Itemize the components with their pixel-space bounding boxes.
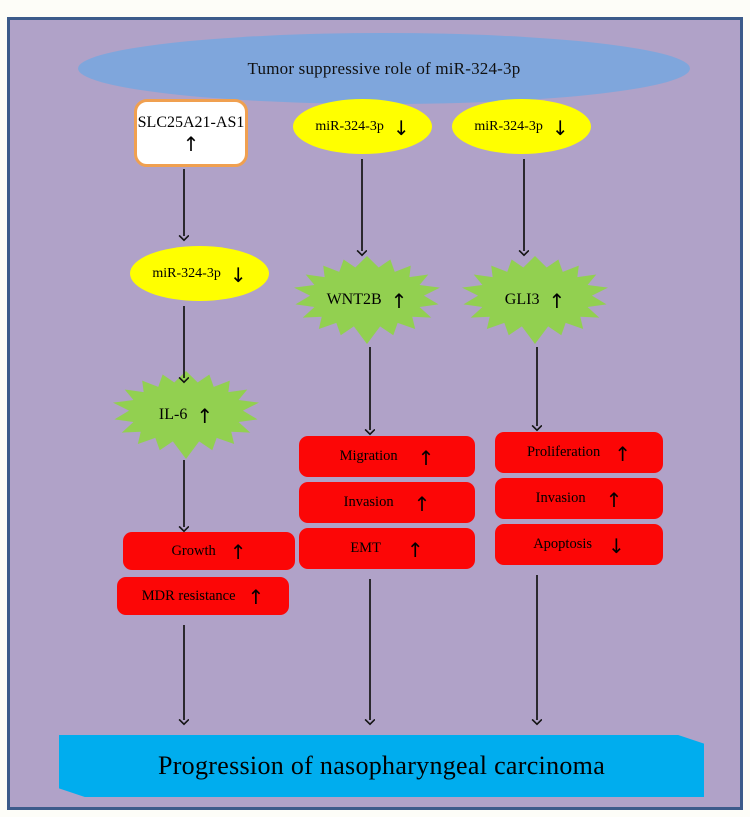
outcome-label: Progression of nasopharyngeal carcinoma	[158, 751, 605, 781]
connector-arrows	[10, 20, 746, 813]
figure-canvas: Tumor suppressive role of miR-324-3p SLC…	[0, 0, 750, 817]
diagram-panel: Tumor suppressive role of miR-324-3p SLC…	[7, 17, 743, 810]
outcome-banner[interactable]: Progression of nasopharyngeal carcinoma	[59, 735, 704, 797]
